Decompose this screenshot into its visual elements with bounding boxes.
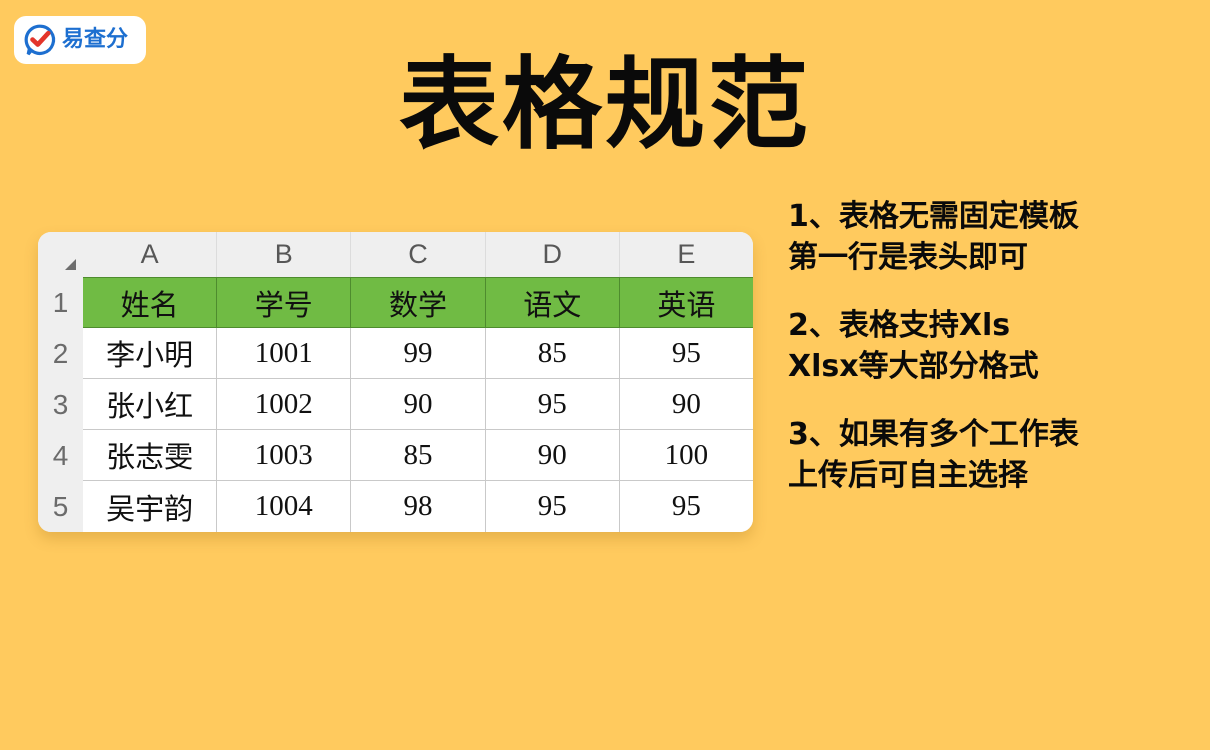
note-3-line-1: 3、如果有多个工作表	[788, 414, 1190, 455]
cell-b5[interactable]: 1004	[217, 481, 351, 532]
column-header-row: A B C D E	[38, 232, 753, 277]
brand-name: 易查分	[62, 29, 128, 51]
cell-d4[interactable]: 90	[486, 430, 620, 481]
cell-e2[interactable]: 95	[620, 328, 753, 379]
page-title: 表格规范	[0, 52, 1210, 157]
column-header-c[interactable]: C	[351, 232, 485, 277]
list-item: 3、如果有多个工作表 上传后可自主选择	[788, 414, 1190, 497]
column-header-d[interactable]: D	[486, 232, 620, 277]
cell-b4[interactable]: 1003	[217, 430, 351, 481]
table-row: 1 姓名 学号 数学 语文 英语	[38, 277, 753, 328]
cell-a5[interactable]: 吴宇韵	[83, 481, 217, 532]
cell-b2[interactable]: 1001	[217, 328, 351, 379]
cell-d1[interactable]: 语文	[486, 277, 620, 328]
cell-a2[interactable]: 李小明	[83, 328, 217, 379]
column-header-e[interactable]: E	[620, 232, 753, 277]
table-row: 4 张志雯 1003 85 90 100	[38, 430, 753, 481]
cell-a4[interactable]: 张志雯	[83, 430, 217, 481]
row-number-1[interactable]: 1	[38, 277, 83, 328]
cell-c4[interactable]: 85	[351, 430, 485, 481]
requirements-list: 1、表格无需固定模板 第一行是表头即可 2、表格支持Xls Xlsx等大部分格式…	[788, 196, 1190, 522]
select-all-corner[interactable]	[38, 232, 83, 277]
cell-e1[interactable]: 英语	[620, 277, 753, 328]
cell-c1[interactable]: 数学	[351, 277, 485, 328]
cell-b3[interactable]: 1002	[217, 379, 351, 430]
note-1-line-1: 1、表格无需固定模板	[788, 196, 1190, 237]
cell-e5[interactable]: 95	[620, 481, 753, 532]
table-row: 2 李小明 1001 99 85 95	[38, 328, 753, 379]
cell-a3[interactable]: 张小红	[83, 379, 217, 430]
note-2-line-1: 2、表格支持Xls	[788, 305, 1190, 346]
row-number-4[interactable]: 4	[38, 430, 83, 481]
cell-c5[interactable]: 98	[351, 481, 485, 532]
cell-a1[interactable]: 姓名	[83, 277, 217, 328]
note-1-line-2: 第一行是表头即可	[788, 237, 1190, 278]
cell-d2[interactable]: 85	[486, 328, 620, 379]
cell-e4[interactable]: 100	[620, 430, 753, 481]
table-row: 3 张小红 1002 90 95 90	[38, 379, 753, 430]
column-header-b[interactable]: B	[217, 232, 351, 277]
spreadsheet-example: A B C D E 1 姓名 学号 数学 语文 英语 2 李小明 1001 99…	[38, 232, 753, 532]
list-item: 2、表格支持Xls Xlsx等大部分格式	[788, 305, 1190, 388]
list-item: 1、表格无需固定模板 第一行是表头即可	[788, 196, 1190, 279]
note-3-line-2: 上传后可自主选择	[788, 455, 1190, 496]
select-all-triangle-icon	[65, 259, 76, 270]
cell-d3[interactable]: 95	[486, 379, 620, 430]
cell-c2[interactable]: 99	[351, 328, 485, 379]
row-number-3[interactable]: 3	[38, 379, 83, 430]
table-row: 5 吴宇韵 1004 98 95 95	[38, 481, 753, 532]
note-2-line-2: Xlsx等大部分格式	[788, 346, 1190, 387]
row-number-2[interactable]: 2	[38, 328, 83, 379]
row-number-5[interactable]: 5	[38, 481, 83, 532]
cell-b1[interactable]: 学号	[217, 277, 351, 328]
column-header-a[interactable]: A	[83, 232, 217, 277]
cell-c3[interactable]: 90	[351, 379, 485, 430]
cell-d5[interactable]: 95	[486, 481, 620, 532]
cell-e3[interactable]: 90	[620, 379, 753, 430]
